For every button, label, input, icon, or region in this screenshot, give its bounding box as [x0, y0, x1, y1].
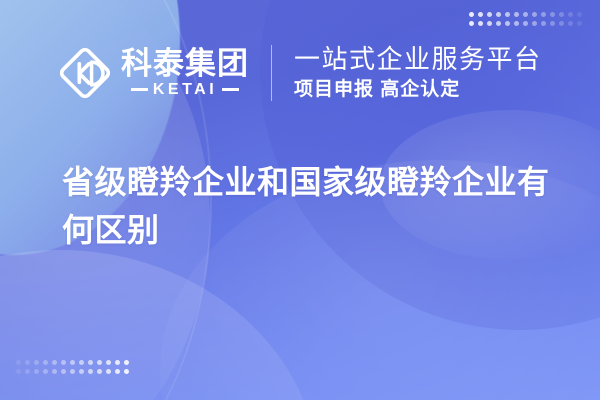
- background-wedge-lower-left: [0, 250, 320, 400]
- dot: [34, 360, 39, 365]
- dot: [25, 369, 30, 374]
- dot: [124, 360, 129, 365]
- dot: [514, 21, 519, 26]
- dot: [52, 360, 57, 365]
- dot: [469, 21, 474, 26]
- dot: [559, 12, 564, 17]
- tagline-main: 一站式企业服务平台: [294, 43, 542, 76]
- dot: [70, 360, 75, 365]
- dot: [523, 12, 528, 17]
- dot: [577, 21, 582, 26]
- tagline-sub: 项目申报 高企认定: [294, 77, 542, 103]
- dot: [52, 369, 57, 374]
- banner-header: 科泰集团 KETAI 一站式企业服务平台 项目申报 高企认定: [0, 38, 600, 108]
- headline-text: 省级瞪羚企业和国家级瞪羚企业有何区别: [62, 158, 562, 254]
- dot-row: [16, 360, 129, 365]
- dot: [541, 21, 546, 26]
- dot: [43, 369, 48, 374]
- dot: [34, 369, 39, 374]
- dot-grid-bottom-left: [16, 360, 129, 374]
- dot: [496, 21, 501, 26]
- dot: [79, 369, 84, 374]
- dot: [43, 360, 48, 365]
- dot: [577, 12, 582, 17]
- dot: [487, 12, 492, 17]
- dot-row: [469, 21, 582, 26]
- dot-row: [16, 369, 129, 374]
- dot: [496, 12, 501, 17]
- dot-row: [469, 12, 582, 17]
- dot: [478, 21, 483, 26]
- dot: [115, 360, 120, 365]
- dot: [79, 360, 84, 365]
- dot: [106, 360, 111, 365]
- dot: [70, 369, 75, 374]
- dot: [568, 21, 573, 26]
- dot: [505, 12, 510, 17]
- brand-wordmark: 科泰集团 KETAI: [121, 48, 249, 98]
- dot: [88, 369, 93, 374]
- ketai-logo-icon: [57, 45, 113, 101]
- brand-rule-right: [222, 88, 239, 91]
- dot: [487, 21, 492, 26]
- dot: [97, 369, 102, 374]
- brand-logo-block[interactable]: 科泰集团 KETAI: [57, 45, 249, 101]
- dot: [88, 360, 93, 365]
- dot: [541, 12, 546, 17]
- dot: [550, 21, 555, 26]
- brand-name-cn: 科泰集团: [121, 48, 249, 81]
- dot: [478, 12, 483, 17]
- header-divider: [271, 45, 272, 101]
- dot: [61, 369, 66, 374]
- dot: [16, 360, 21, 365]
- dot: [523, 21, 528, 26]
- dot: [115, 369, 120, 374]
- dot: [25, 360, 30, 365]
- brand-name-en: KETAI: [153, 82, 217, 98]
- dot: [532, 21, 537, 26]
- dot: [61, 360, 66, 365]
- dot: [106, 369, 111, 374]
- brand-rule-left: [131, 88, 148, 91]
- tagline-block: 一站式企业服务平台 项目申报 高企认定: [294, 43, 542, 103]
- dot: [124, 369, 129, 374]
- dot: [505, 21, 510, 26]
- dot: [514, 12, 519, 17]
- dot: [16, 369, 21, 374]
- dot: [532, 12, 537, 17]
- promo-banner: 科泰集团 KETAI 一站式企业服务平台 项目申报 高企认定 省级瞪羚企业和国家…: [0, 0, 600, 400]
- dot: [469, 12, 474, 17]
- dot: [550, 12, 555, 17]
- dot: [568, 12, 573, 17]
- dot: [559, 21, 564, 26]
- brand-name-en-wrapper: KETAI: [131, 82, 239, 98]
- dot: [97, 360, 102, 365]
- dot-grid-top-right: [469, 12, 582, 26]
